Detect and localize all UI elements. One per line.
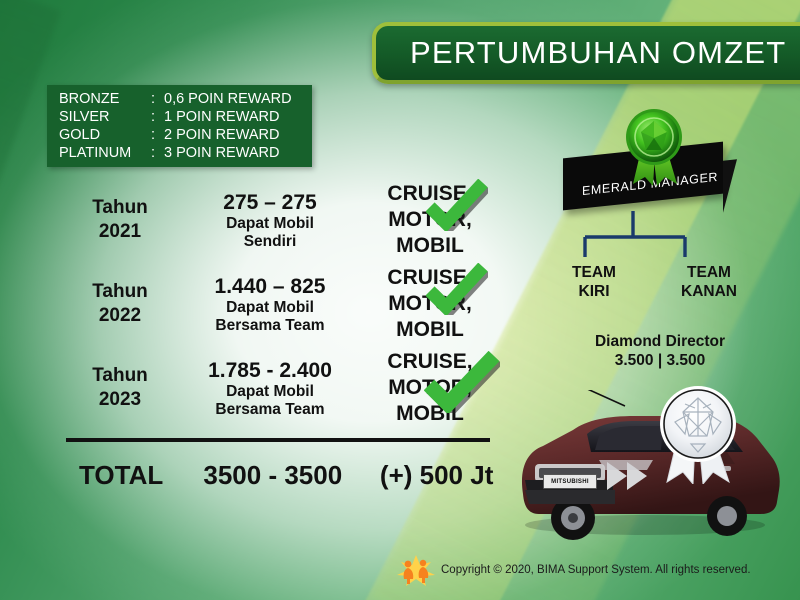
total-divider xyxy=(66,438,490,442)
copyright-text: Copyright © 2020, BIMA Support System. A… xyxy=(437,564,751,576)
total-extra: (+) 500 Jt xyxy=(363,460,510,491)
emerald-manager-box-side xyxy=(723,159,737,212)
reward-legend-box: BRONZE : 0,6 POIN REWARD SILVER : 1 POIN… xyxy=(47,85,312,167)
legend-row: SILVER : 1 POIN REWARD xyxy=(59,108,292,126)
legend-reward: 3 POIN REWARD xyxy=(164,144,292,162)
legend-level: BRONZE xyxy=(59,90,151,108)
slide-canvas: PERTUMBUHAN OMZET BRONZE : 0,6 POIN REWA… xyxy=(0,0,800,600)
table-row: Tahun 2023 1.785 - 2.400 Dapat Mobil Ber… xyxy=(60,346,500,430)
legend-colon: : xyxy=(151,126,164,144)
row-year: Tahun 2023 xyxy=(60,364,180,412)
row-reward-3: MOBIL xyxy=(360,233,500,259)
legend-row: GOLD : 2 POIN REWARD xyxy=(59,126,292,144)
team-right-label: TEAM KANAN xyxy=(659,263,759,301)
growth-table: Tahun 2021 275 – 275 Dapat Mobil Sendiri… xyxy=(60,178,500,430)
team-right-line2: KANAN xyxy=(659,282,759,301)
legend-level: PLATINUM xyxy=(59,144,151,162)
row-year-label: Tahun xyxy=(60,280,180,304)
row-reward-2: MOTOR, xyxy=(360,291,500,317)
emerald-rosette-icon xyxy=(623,108,685,186)
diamond-rosette-icon xyxy=(655,384,741,484)
row-reward-3: MOBIL xyxy=(360,317,500,343)
bima-star-people-icon xyxy=(395,553,437,587)
row-value-range: 1.785 - 2.400 xyxy=(180,358,360,383)
team-right-line1: TEAM xyxy=(659,263,759,282)
row-note-2: Bersama Team xyxy=(180,401,360,419)
row-value-range: 1.440 – 825 xyxy=(180,274,360,299)
table-row: Tahun 2021 275 – 275 Dapat Mobil Sendiri… xyxy=(60,178,500,262)
row-reward: CRUISE, MOTOR, MOBIL xyxy=(360,349,500,427)
row-year-value: 2021 xyxy=(60,220,180,244)
footer: Copyright © 2020, BIMA Support System. A… xyxy=(395,553,795,587)
org-connector-lines xyxy=(545,211,795,263)
row-reward-2: MOTOR, xyxy=(360,375,500,401)
row-reward-2: MOTOR, xyxy=(360,207,500,233)
total-row: TOTAL 3500 - 3500 (+) 500 Jt xyxy=(60,452,510,498)
legend-reward: 0,6 POIN REWARD xyxy=(164,90,292,108)
row-reward-1: CRUISE, xyxy=(360,265,500,291)
legend-colon: : xyxy=(151,108,164,126)
legend-row: PLATINUM : 3 POIN REWARD xyxy=(59,144,292,162)
row-value-range: 275 – 275 xyxy=(180,190,360,215)
row-reward-1: CRUISE, xyxy=(360,349,500,375)
legend-reward: 1 POIN REWARD xyxy=(164,108,292,126)
org-chart: EMERALD MANAGER xyxy=(545,115,795,315)
table-row: Tahun 2022 1.440 – 825 Dapat Mobil Bersa… xyxy=(60,262,500,346)
total-label: TOTAL xyxy=(60,460,182,491)
row-year: Tahun 2022 xyxy=(60,280,180,328)
row-year-value: 2023 xyxy=(60,388,180,412)
row-year: Tahun 2021 xyxy=(60,196,180,244)
row-year-label: Tahun xyxy=(60,364,180,388)
row-value: 275 – 275 Dapat Mobil Sendiri xyxy=(180,190,360,251)
legend-level: SILVER xyxy=(59,108,151,126)
row-note-1: Dapat Mobil xyxy=(180,383,360,401)
diamond-director-caption: Diamond Director 3.500 | 3.500 xyxy=(560,332,760,370)
page-title: PERTUMBUHAN OMZET xyxy=(376,35,786,71)
diamond-director-numbers: 3.500 | 3.500 xyxy=(560,351,760,370)
team-left-line2: KIRI xyxy=(549,282,639,301)
row-note-1: Dapat Mobil xyxy=(180,215,360,233)
team-left-line1: TEAM xyxy=(549,263,639,282)
row-value: 1.440 – 825 Dapat Mobil Bersama Team xyxy=(180,274,360,335)
row-note-2: Bersama Team xyxy=(180,317,360,335)
row-note-2: Sendiri xyxy=(180,233,360,251)
row-note-1: Dapat Mobil xyxy=(180,299,360,317)
row-value: 1.785 - 2.400 Dapat Mobil Bersama Team xyxy=(180,358,360,419)
row-reward-1: CRUISE, xyxy=(360,181,500,207)
legend-level: GOLD xyxy=(59,126,151,144)
legend-colon: : xyxy=(151,90,164,108)
row-reward-3: MOBIL xyxy=(360,401,500,427)
reward-legend-table: BRONZE : 0,6 POIN REWARD SILVER : 1 POIN… xyxy=(59,90,292,162)
legend-row: BRONZE : 0,6 POIN REWARD xyxy=(59,90,292,108)
team-left-label: TEAM KIRI xyxy=(549,263,639,301)
row-reward: CRUISE, MOTOR, MOBIL xyxy=(360,265,500,343)
legend-reward: 2 POIN REWARD xyxy=(164,126,292,144)
row-year-value: 2022 xyxy=(60,304,180,328)
row-reward: CRUISE, MOTOR, MOBIL xyxy=(360,181,500,259)
diamond-director-leader-line xyxy=(495,390,800,540)
total-value: 3500 - 3500 xyxy=(182,460,363,491)
legend-colon: : xyxy=(151,144,164,162)
row-year-label: Tahun xyxy=(60,196,180,220)
header-banner: PERTUMBUHAN OMZET xyxy=(372,22,800,84)
car-image: MITSUBISHI xyxy=(495,390,800,540)
diamond-director-title: Diamond Director xyxy=(560,332,760,351)
